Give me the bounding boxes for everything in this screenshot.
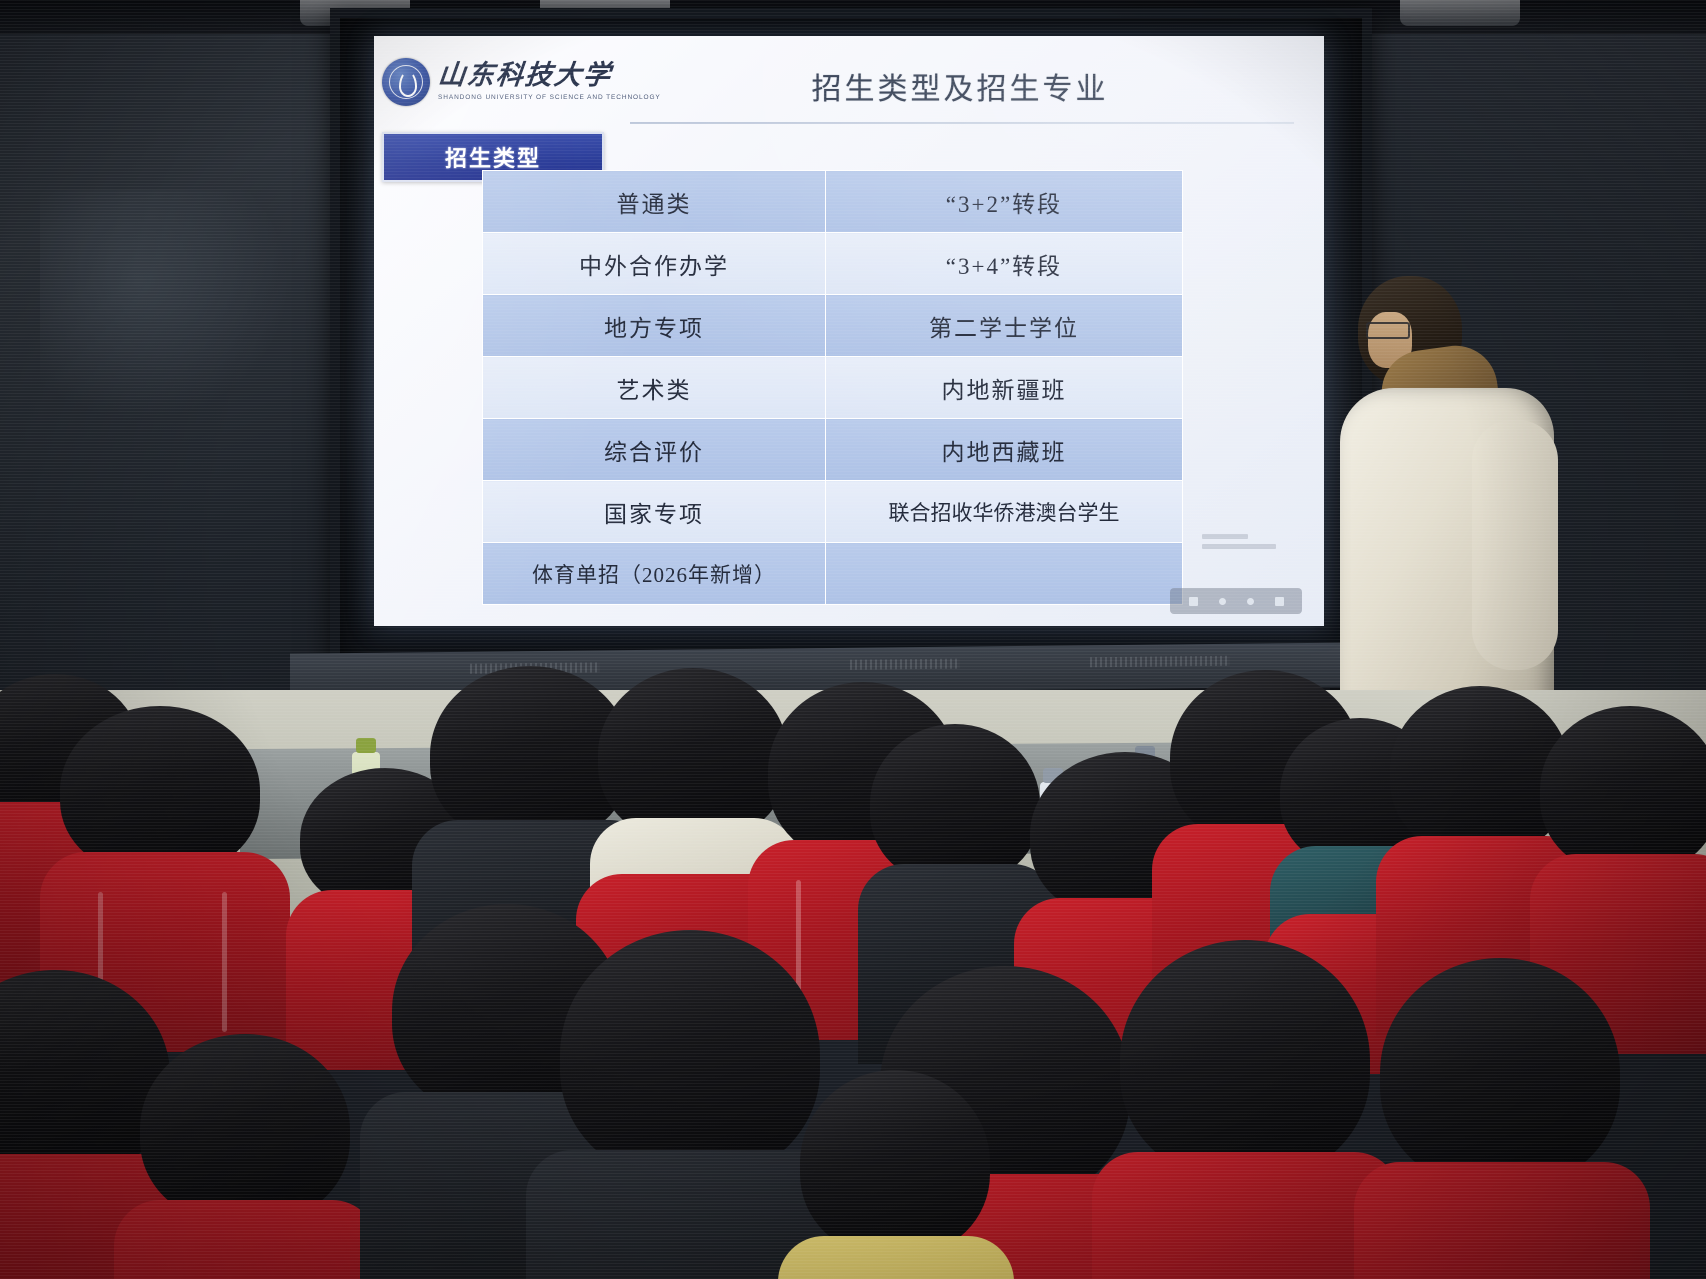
table-row: 艺术类 内地新疆班: [483, 357, 1183, 419]
student: [800, 1070, 990, 1279]
slide-watermark: [1202, 534, 1288, 560]
table-row: 体育单招（2026年新增）: [483, 543, 1183, 605]
presentation-slide[interactable]: 山东科技大学 SHANDONG UNIVERSITY OF SCIENCE AN…: [374, 36, 1324, 626]
section-tag-label: 招生类型: [445, 141, 541, 173]
cell-type: 体育单招（2026年新增）: [483, 543, 826, 605]
university-name-en: SHANDONG UNIVERSITY OF SCIENCE AND TECHN…: [438, 95, 661, 102]
cell-program: 内地新疆班: [826, 357, 1183, 419]
student: [560, 930, 820, 1279]
slideshow-menu-icon[interactable]: [1247, 598, 1254, 605]
university-name-cn: 山东科技大学: [437, 62, 662, 89]
table-row: 地方专项 第二学士学位: [483, 295, 1183, 357]
table-row: 中外合作办学 “3+4”转段: [483, 233, 1183, 295]
cell-type: 国家专项: [483, 481, 826, 543]
student: [1540, 706, 1706, 996]
glasses-icon: [1366, 322, 1410, 339]
slide-title: 招生类型及招生专业: [630, 60, 1290, 112]
ceiling-light-right: [1400, 0, 1520, 26]
student: [60, 706, 260, 986]
table-row: 普通类 “3+2”转段: [483, 171, 1183, 233]
cell-type: 中外合作办学: [483, 233, 826, 295]
presenter-arm: [1472, 420, 1558, 670]
slideshow-controls-bar[interactable]: [1170, 588, 1302, 614]
classroom-photo-scene: 山东科技大学 SHANDONG UNIVERSITY OF SCIENCE AN…: [0, 0, 1706, 1279]
cell-program: 联合招收华侨港澳台学生: [826, 481, 1183, 543]
pointer-icon[interactable]: [1219, 598, 1226, 605]
prev-slide-icon[interactable]: [1189, 597, 1198, 606]
student: [1120, 940, 1370, 1279]
cell-type: 地方专项: [483, 295, 826, 357]
university-logo: 山东科技大学 SHANDONG UNIVERSITY OF SCIENCE AN…: [382, 48, 630, 116]
cell-program: [826, 543, 1183, 605]
table-row: 国家专项 联合招收华侨港澳台学生: [483, 481, 1183, 543]
audience: [0, 640, 1706, 1279]
cell-program: “3+2”转段: [826, 171, 1183, 233]
cell-type: 普通类: [483, 171, 826, 233]
admission-types-table: 普通类 “3+2”转段 中外合作办学 “3+4”转段 地方专项 第二学士学位 艺…: [482, 170, 1183, 605]
left-wall: [0, 0, 372, 700]
next-slide-icon[interactable]: [1275, 597, 1284, 606]
student: [140, 1034, 350, 1279]
student: [1380, 958, 1620, 1279]
cell-program: “3+4”转段: [826, 233, 1183, 295]
title-underline: [630, 122, 1294, 124]
cell-program: 第二学士学位: [826, 295, 1183, 357]
cell-program: 内地西藏班: [826, 419, 1183, 481]
university-seal-icon: [382, 58, 430, 106]
table-row: 综合评价 内地西藏班: [483, 419, 1183, 481]
cell-type: 综合评价: [483, 419, 826, 481]
cell-type: 艺术类: [483, 357, 826, 419]
